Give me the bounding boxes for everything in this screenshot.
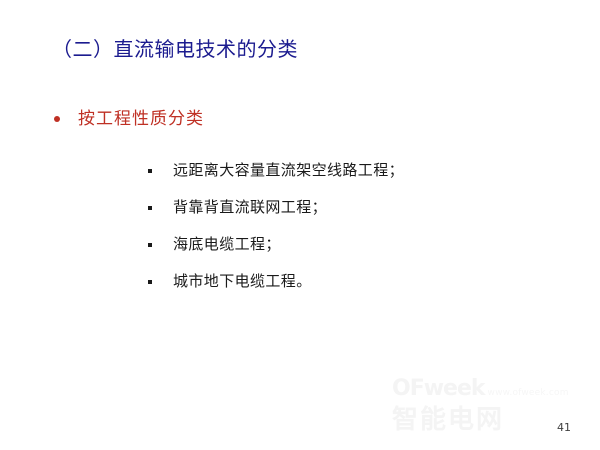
- watermark-brand-label: OFweek: [392, 376, 485, 401]
- level1-bullet-row: 按工程性质分类: [54, 108, 204, 130]
- level2-bullet-dot-icon: [148, 169, 152, 173]
- watermark-brand-row: OFweek www.ofweek.com: [392, 376, 577, 401]
- level2-bullet-list: 远距离大容量直流架空线路工程； 背靠背直流联网工程； 海底电缆工程； 城市地下电…: [148, 160, 568, 308]
- list-item-label: 背靠背直流联网工程；: [173, 197, 327, 218]
- level2-bullet-dot-icon: [148, 243, 152, 247]
- list-item-label: 城市地下电缆工程。: [173, 271, 312, 292]
- list-item: 背靠背直流联网工程；: [148, 197, 568, 234]
- watermark-subtitle-label: 智能电网: [392, 399, 577, 436]
- level1-bullet-label: 按工程性质分类: [78, 108, 204, 130]
- list-item: 远距离大容量直流架空线路工程；: [148, 160, 568, 197]
- slide-title: （二）直流输电技术的分类: [52, 36, 298, 62]
- page-number: 41: [557, 421, 571, 434]
- level1-bullet-dot-icon: [54, 116, 60, 122]
- slide-canvas: （二）直流输电技术的分类 按工程性质分类 远距离大容量直流架空线路工程； 背靠背…: [0, 0, 600, 450]
- list-item-label: 远距离大容量直流架空线路工程；: [173, 160, 404, 181]
- list-item-label: 海底电缆工程；: [173, 234, 281, 255]
- watermark: OFweek www.ofweek.com 智能电网: [392, 376, 577, 432]
- watermark-url-label: www.ofweek.com: [488, 388, 569, 398]
- list-item: 城市地下电缆工程。: [148, 271, 568, 308]
- level2-bullet-dot-icon: [148, 280, 152, 284]
- list-item: 海底电缆工程；: [148, 234, 568, 271]
- level2-bullet-dot-icon: [148, 206, 152, 210]
